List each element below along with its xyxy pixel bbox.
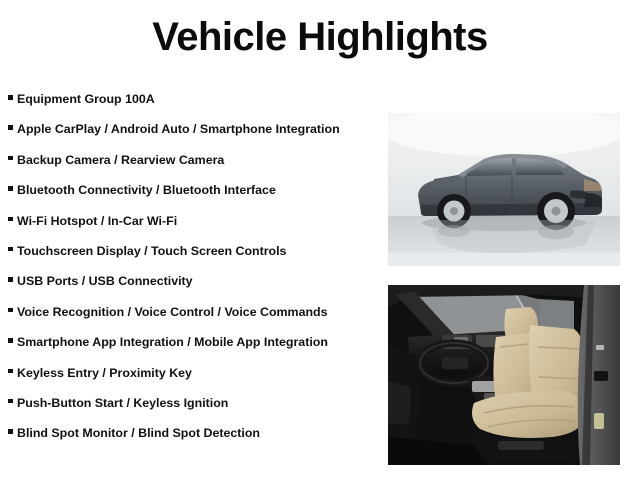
list-item-label: Bluetooth Connectivity / Bluetooth Inter… [17,179,276,201]
bullet-square-icon [8,247,13,252]
bullet-square-icon [8,399,13,404]
list-item: Apple CarPlay / Android Auto / Smartphon… [0,118,380,148]
vehicle-highlights-list: Equipment Group 100A Apple CarPlay / And… [0,88,380,453]
list-item-label: Equipment Group 100A [17,88,155,110]
list-item-label: Voice Recognition / Voice Control / Voic… [17,301,328,323]
bullet-square-icon [8,338,13,343]
bullet-square-icon [8,95,13,100]
bullet-square-icon [8,156,13,161]
vehicle-exterior-illustration [388,113,620,266]
vehicle-exterior-photo [388,113,620,266]
list-item: Blind Spot Monitor / Blind Spot Detectio… [0,422,380,452]
vehicle-interior-photo [388,285,620,465]
bullet-square-icon [8,308,13,313]
list-item: Bluetooth Connectivity / Bluetooth Inter… [0,179,380,209]
list-item-label: Blind Spot Monitor / Blind Spot Detectio… [17,422,260,444]
list-item: Equipment Group 100A [0,88,380,118]
bullet-square-icon [8,186,13,191]
list-item: Keyless Entry / Proximity Key [0,362,380,392]
list-item-label: Keyless Entry / Proximity Key [17,362,192,384]
list-item-label: Backup Camera / Rearview Camera [17,149,224,171]
list-item: Voice Recognition / Voice Control / Voic… [0,301,380,331]
list-item-label: Smartphone App Integration / Mobile App … [17,331,328,353]
list-item-label: Push-Button Start / Keyless Ignition [17,392,228,414]
list-item: Wi-Fi Hotspot / In-Car Wi-Fi [0,210,380,240]
list-item: Backup Camera / Rearview Camera [0,149,380,179]
list-item: Smartphone App Integration / Mobile App … [0,331,380,361]
list-item: Push-Button Start / Keyless Ignition [0,392,380,422]
bullet-square-icon [8,277,13,282]
list-item-label: USB Ports / USB Connectivity [17,270,193,292]
bullet-square-icon [8,125,13,130]
list-item: Touchscreen Display / Touch Screen Contr… [0,240,380,270]
list-item-label: Apple CarPlay / Android Auto / Smartphon… [17,118,340,140]
list-item: USB Ports / USB Connectivity [0,270,380,300]
page-title: Vehicle Highlights [0,14,640,60]
bullet-square-icon [8,369,13,374]
list-item-label: Wi-Fi Hotspot / In-Car Wi-Fi [17,210,177,232]
bullet-square-icon [8,217,13,222]
bullet-square-icon [8,429,13,434]
list-item-label: Touchscreen Display / Touch Screen Contr… [17,240,286,262]
slide-canvas: Vehicle Highlights Equipment Group 100A … [0,0,640,480]
vehicle-interior-illustration [388,285,620,465]
